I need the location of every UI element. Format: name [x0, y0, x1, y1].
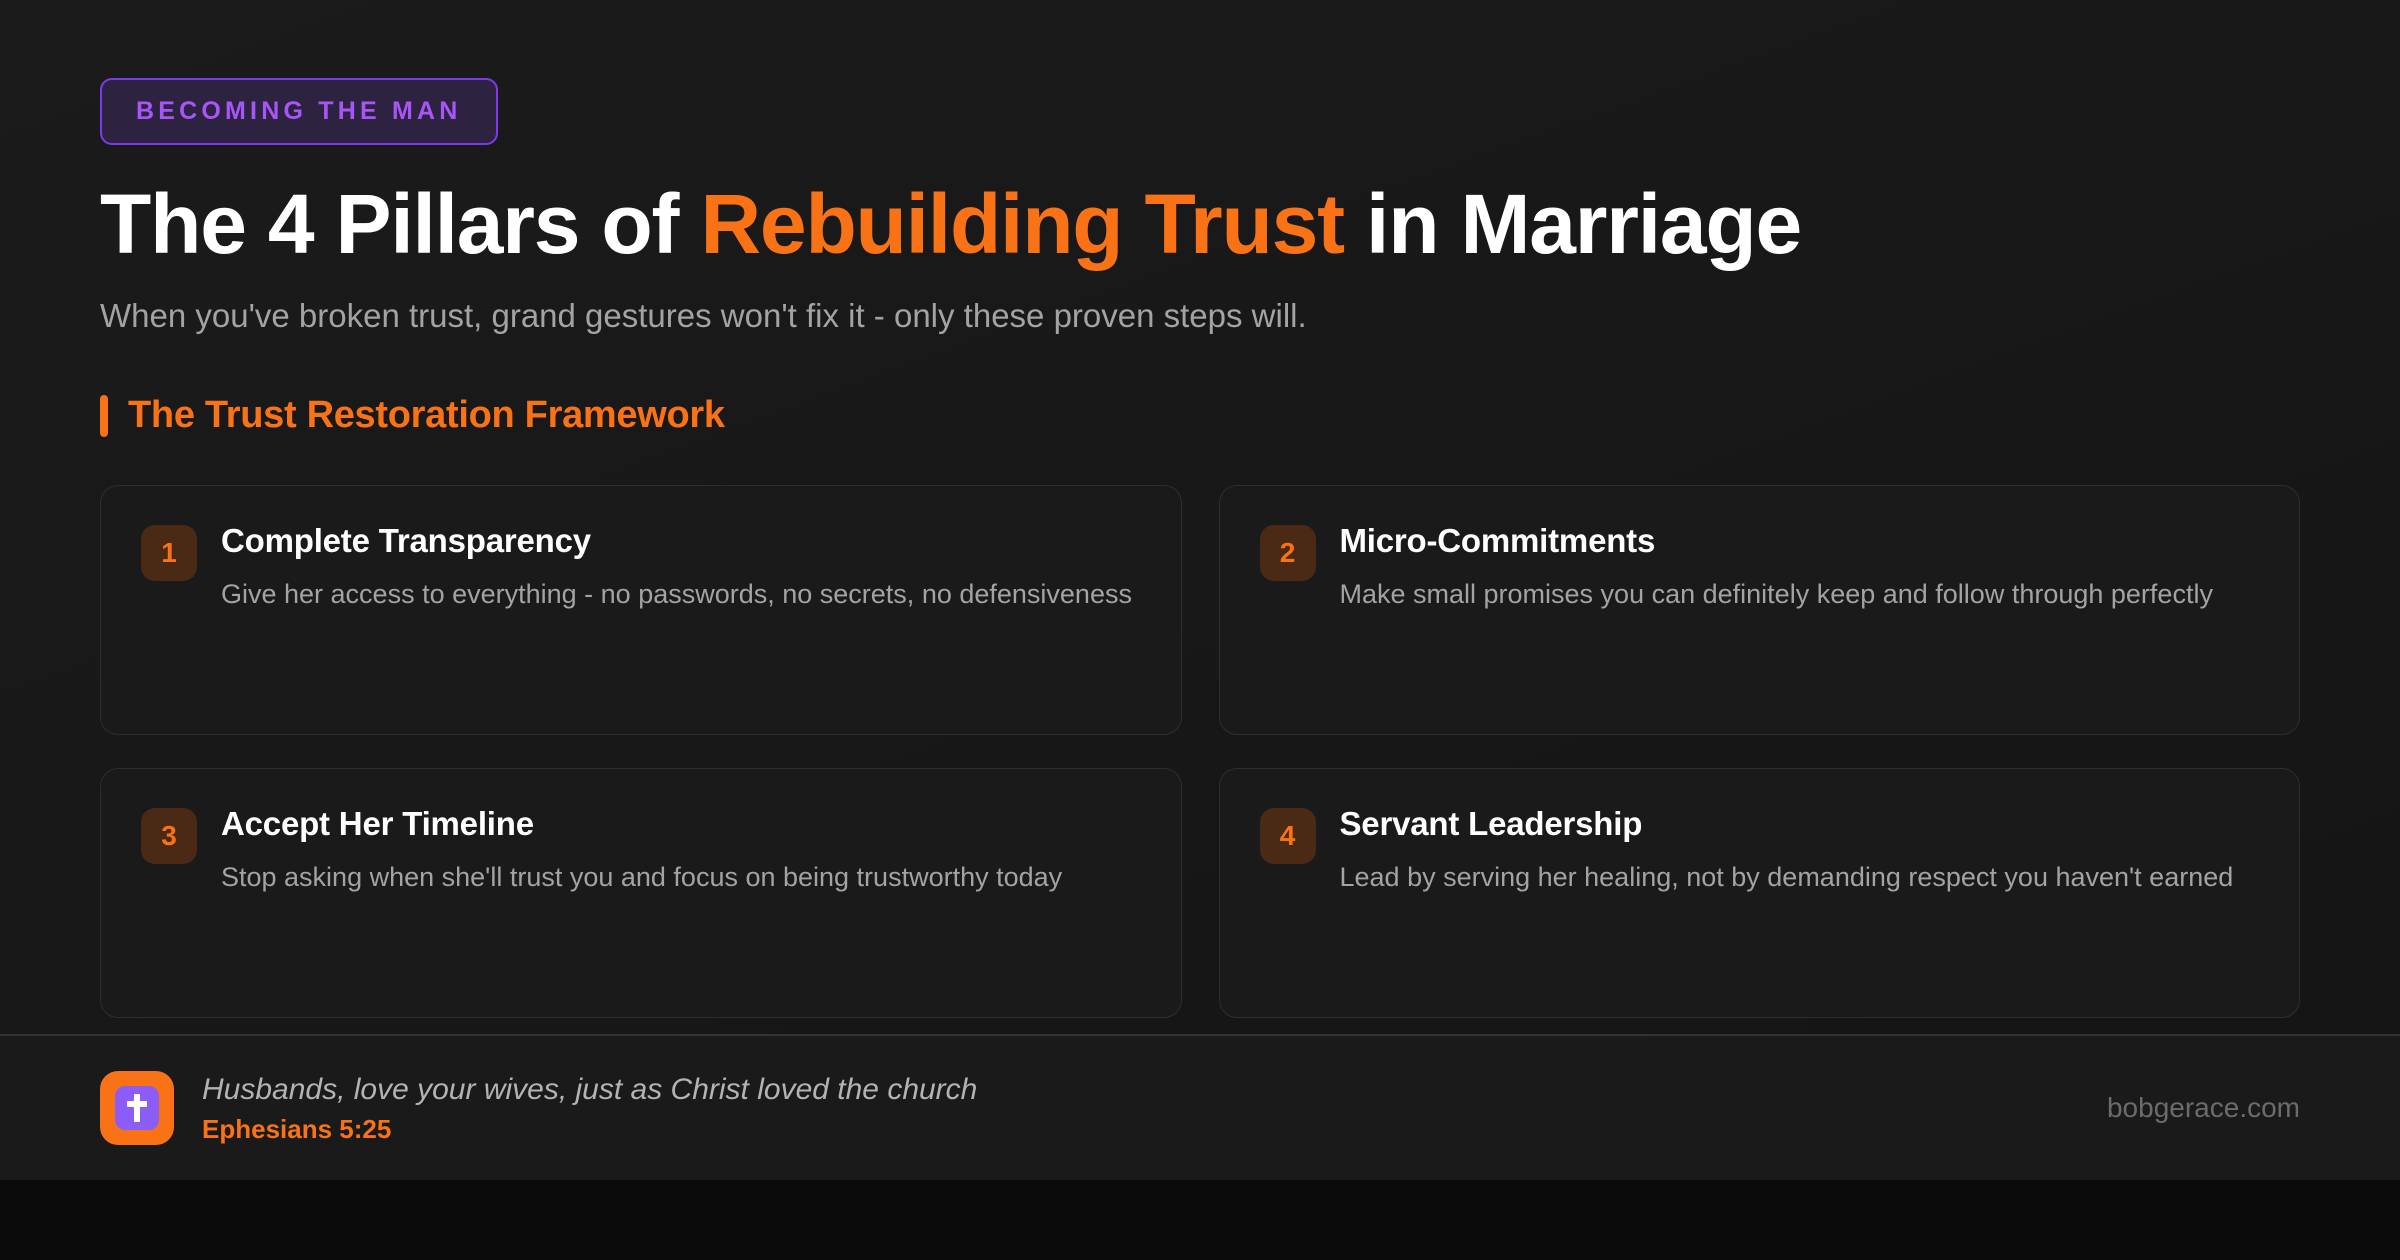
- headline-highlight: Rebuilding Trust: [700, 177, 1343, 271]
- pillar-title: Micro-Commitments: [1340, 522, 2260, 561]
- pillar-body: Micro-Commitments Make small promises yo…: [1340, 522, 2260, 613]
- slide-content: BECOMING THE MAN The 4 Pillars of Rebuil…: [0, 0, 2400, 1034]
- pillar-body: Complete Transparency Give her access to…: [221, 522, 1141, 613]
- pillar-title: Servant Leadership: [1340, 805, 2260, 844]
- pillar-description: Stop asking when she'll trust you and fo…: [221, 858, 1141, 896]
- eyebrow-label: BECOMING THE MAN: [136, 97, 462, 126]
- pillar-card-2[interactable]: 2 Micro-Commitments Make small promises …: [1219, 485, 2301, 735]
- pillar-body: Accept Her Timeline Stop asking when she…: [221, 805, 1141, 896]
- pillar-description: Give her access to everything - no passw…: [221, 575, 1141, 613]
- pillar-number-badge: 1: [141, 525, 197, 581]
- page-bottom-strip: [0, 1180, 2400, 1260]
- headline-part-1: The 4 Pillars of: [100, 177, 700, 271]
- pillar-number-badge: 4: [1260, 808, 1316, 864]
- scripture-text-block: Husbands, love your wives, just as Chris…: [202, 1071, 977, 1145]
- eyebrow-badge: BECOMING THE MAN: [100, 78, 498, 145]
- page-title: The 4 Pillars of Rebuilding Trust in Mar…: [100, 179, 2300, 270]
- scripture-reference: Ephesians 5:25: [202, 1114, 977, 1145]
- page-subtitle: When you've broken trust, grand gestures…: [100, 294, 2300, 339]
- pillar-body: Servant Leadership Lead by serving her h…: [1340, 805, 2260, 896]
- scripture-block: Husbands, love your wives, just as Chris…: [100, 1071, 977, 1145]
- pillar-description: Lead by serving her healing, not by dema…: [1340, 858, 2260, 896]
- section-title: The Trust Restoration Framework: [128, 394, 725, 437]
- pillar-title: Accept Her Timeline: [221, 805, 1141, 844]
- scripture-quote: Husbands, love your wives, just as Chris…: [202, 1071, 977, 1109]
- section-header: The Trust Restoration Framework: [100, 394, 2300, 437]
- pillar-description: Make small promises you can definitely k…: [1340, 575, 2260, 613]
- pillar-number: 4: [1280, 820, 1296, 852]
- pillar-card-3[interactable]: 3 Accept Her Timeline Stop asking when s…: [100, 768, 1182, 1018]
- section-accent-bar: [100, 395, 108, 437]
- site-url: bobgerace.com: [2107, 1092, 2300, 1124]
- pillar-number: 2: [1280, 537, 1296, 569]
- pillar-number-badge: 3: [141, 808, 197, 864]
- slide-footer: Husbands, love your wives, just as Chris…: [0, 1034, 2400, 1180]
- pillar-number-badge: 2: [1260, 525, 1316, 581]
- pillars-grid: 1 Complete Transparency Give her access …: [100, 485, 2300, 1018]
- cross-icon: [100, 1071, 174, 1145]
- pillar-title: Complete Transparency: [221, 522, 1141, 561]
- pillar-card-1[interactable]: 1 Complete Transparency Give her access …: [100, 485, 1182, 735]
- headline-part-2: in Marriage: [1344, 177, 1801, 271]
- slide-canvas: BECOMING THE MAN The 4 Pillars of Rebuil…: [0, 0, 2400, 1180]
- cross-icon-inner: [115, 1086, 159, 1130]
- pillar-number: 1: [161, 537, 177, 569]
- pillar-card-4[interactable]: 4 Servant Leadership Lead by serving her…: [1219, 768, 2301, 1018]
- pillar-number: 3: [161, 820, 177, 852]
